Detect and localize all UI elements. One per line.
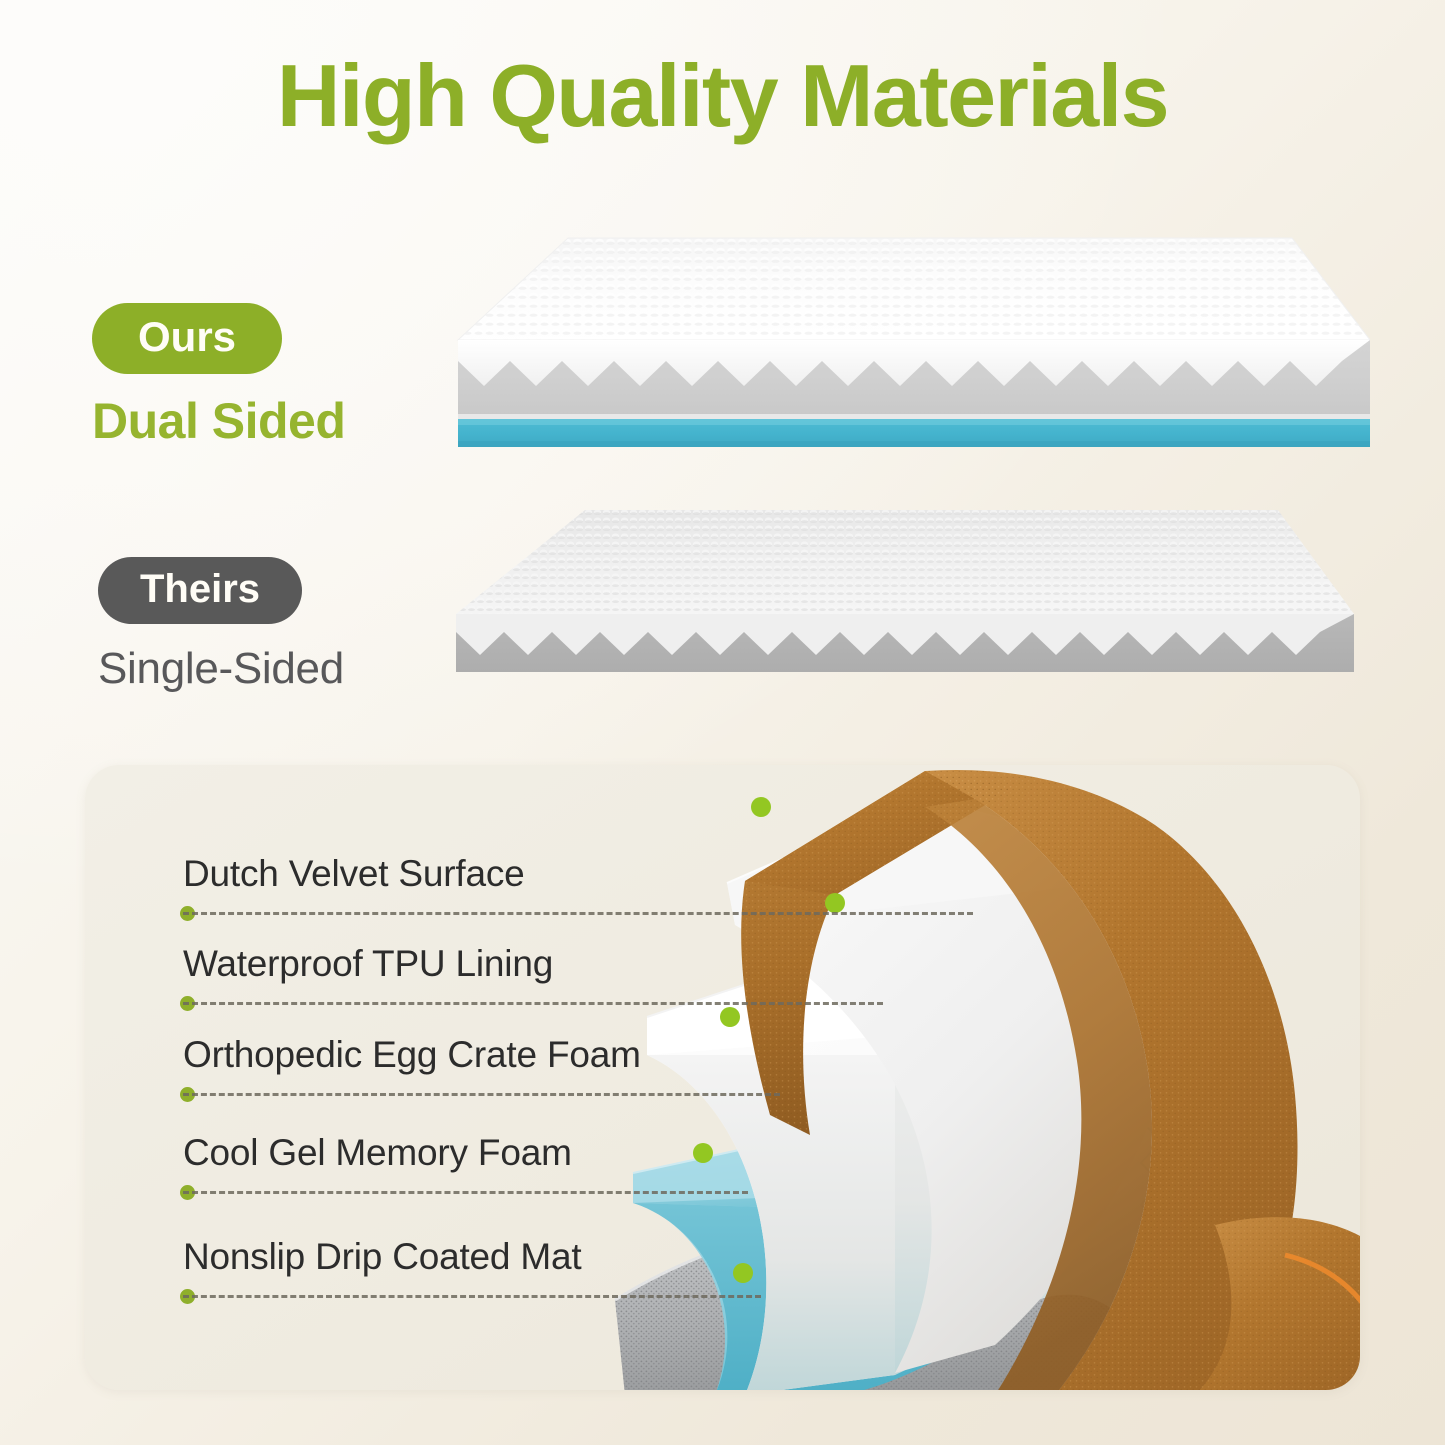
ours-badge: Ours (92, 303, 282, 374)
callout-item: Waterproof TPU Lining (183, 945, 553, 1004)
leader-dashed-line (183, 912, 973, 918)
theirs-subtitle: Single-Sided (98, 644, 344, 694)
callout-label: Dutch Velvet Surface (183, 855, 525, 892)
callout-label: Waterproof TPU Lining (183, 945, 553, 982)
page-title: High Quality Materials (0, 48, 1445, 145)
callout-leader (183, 1275, 581, 1297)
theirs-badge: Theirs (98, 557, 302, 624)
ours-subtitle: Dual Sided (92, 392, 345, 450)
callout-item: Orthopedic Egg Crate Foam (183, 1036, 641, 1095)
materials-card: Dutch Velvet Surface Waterproof TPU Lini… (85, 765, 1360, 1390)
theirs-label-block: Theirs Single-Sided (98, 557, 344, 694)
leader-dashed-line (183, 1191, 748, 1197)
ours-label-block: Ours Dual Sided (92, 303, 345, 450)
callout-leader (183, 1073, 641, 1095)
callout-leader (183, 982, 553, 1004)
leader-dashed-line (183, 1002, 883, 1008)
infographic-canvas: High Quality Materials Ours Dual Sided T… (0, 0, 1445, 1445)
callout-leader (183, 892, 525, 914)
callout-label: Orthopedic Egg Crate Foam (183, 1036, 641, 1073)
callout-label: Cool Gel Memory Foam (183, 1134, 572, 1171)
ours-mattress-illustration (440, 228, 1370, 460)
callout-leader (183, 1171, 572, 1193)
callout-item: Cool Gel Memory Foam (183, 1134, 572, 1193)
callout-label: Nonslip Drip Coated Mat (183, 1238, 581, 1275)
callout-item: Nonslip Drip Coated Mat (183, 1238, 581, 1297)
leader-dashed-line (183, 1093, 780, 1099)
callout-list: Dutch Velvet Surface Waterproof TPU Lini… (85, 765, 1360, 1390)
theirs-mattress-illustration (440, 492, 1370, 682)
callout-item: Dutch Velvet Surface (183, 855, 525, 914)
leader-dashed-line (183, 1295, 761, 1301)
